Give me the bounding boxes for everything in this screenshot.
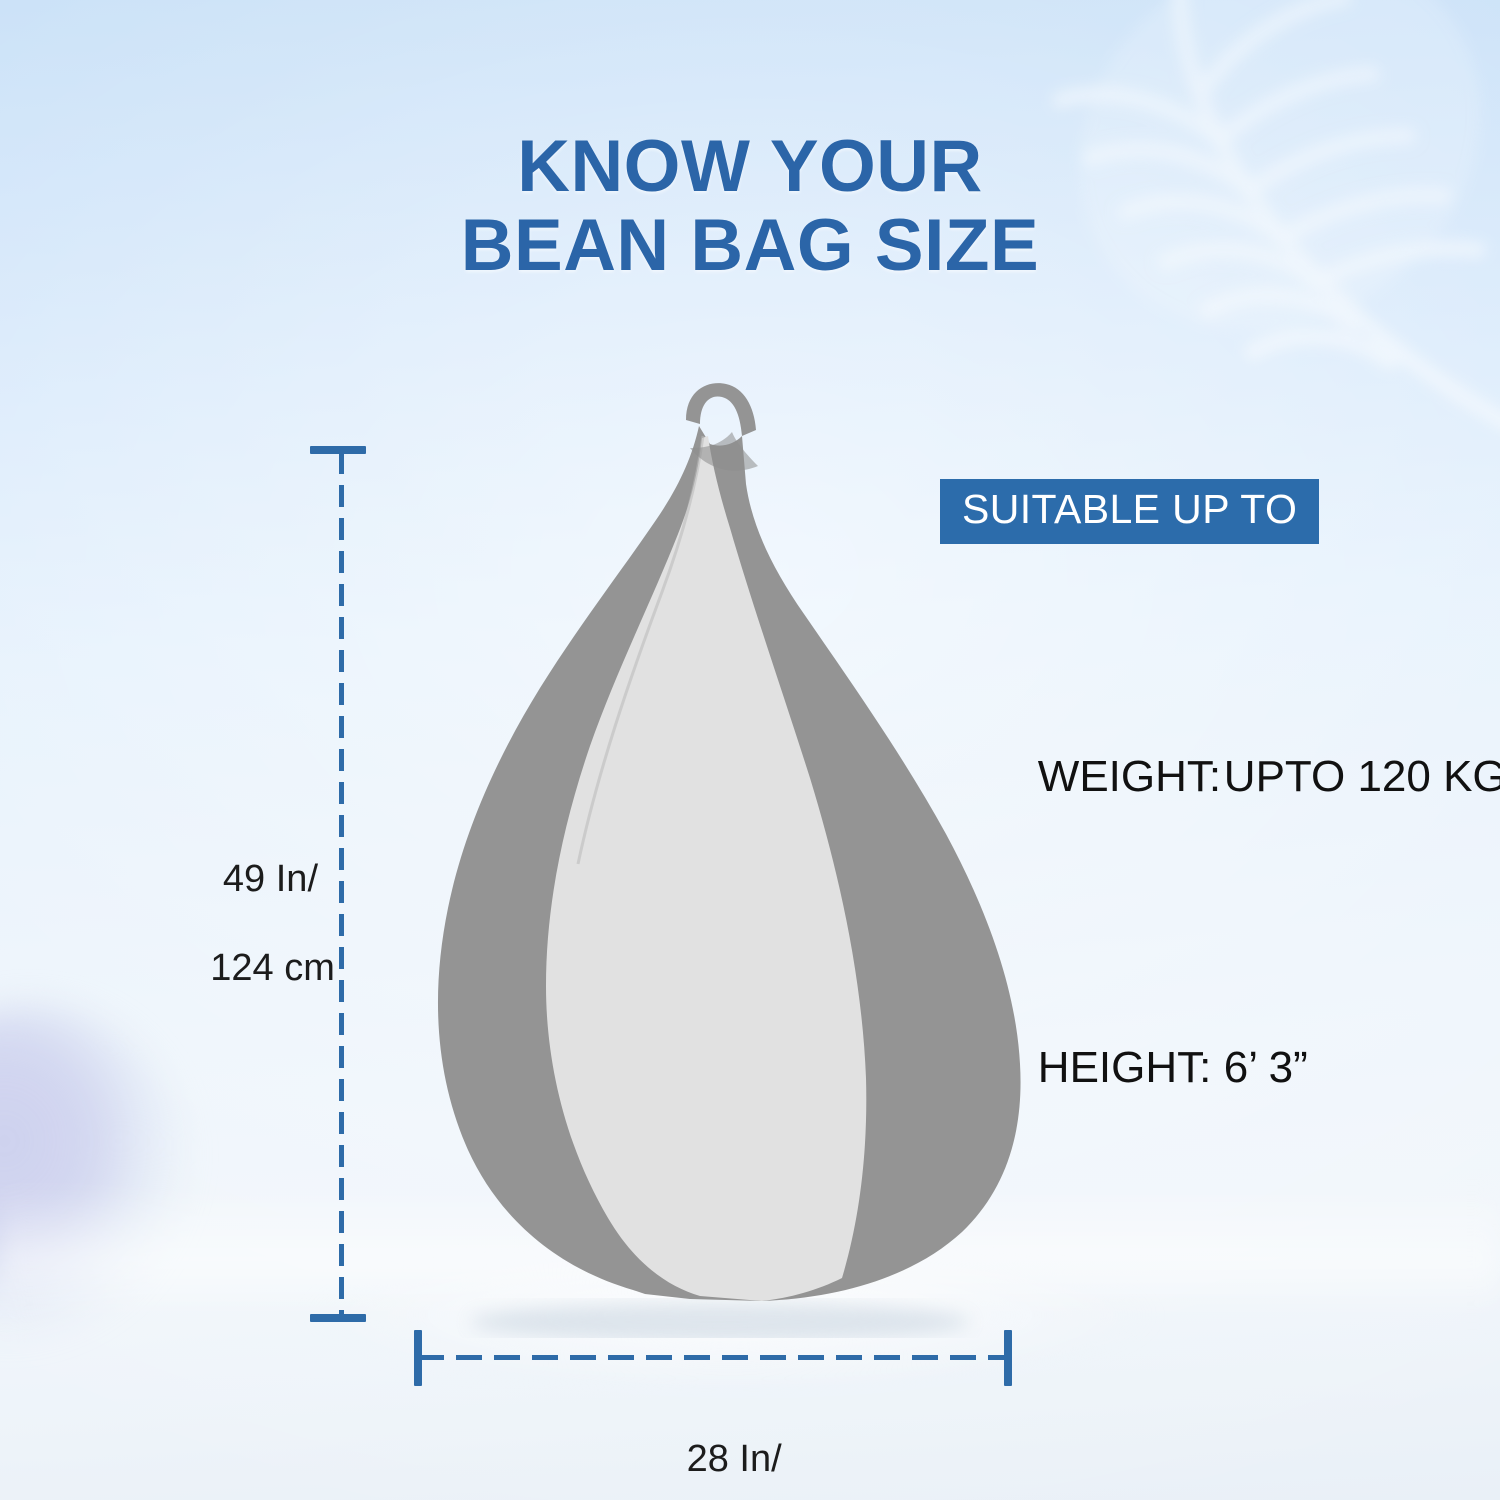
title-line-1: KNOW YOUR bbox=[517, 126, 983, 207]
width-dimension-stem bbox=[418, 1355, 1008, 1360]
height-dimension-label: 49 In/ 124 cm bbox=[168, 812, 318, 1036]
page-title: KNOW YOUR BEAN BAG SIZE bbox=[0, 128, 1500, 286]
height-dimension-line bbox=[333, 446, 349, 1322]
width-label-line-1: 28 In/ bbox=[687, 1438, 782, 1480]
spec-key-height: HEIGHT: bbox=[1038, 1039, 1224, 1097]
infographic-canvas: KNOW YOUR BEAN BAG SIZE bbox=[0, 0, 1500, 1500]
spec-key-weight: WEIGHT: bbox=[1038, 748, 1224, 806]
title-line-2: BEAN BAG SIZE bbox=[0, 207, 1500, 286]
height-label-line-2: 124 cm bbox=[210, 947, 335, 989]
status-badge: SUITABLE UP TO bbox=[940, 479, 1319, 544]
spec-row-weight: WEIGHT:UPTO 120 KG bbox=[940, 690, 1460, 864]
height-dimension-cap-top bbox=[310, 446, 366, 454]
carry-handle-icon bbox=[686, 383, 756, 436]
height-label-line-1: 49 In/ bbox=[223, 858, 318, 900]
height-dimension-cap-bottom bbox=[310, 1314, 366, 1322]
width-dimension-label: 28 In/ 71 cm bbox=[538, 1392, 888, 1500]
spec-list: WEIGHT:UPTO 120 KG HEIGHT:6’ 3” bbox=[940, 574, 1460, 1271]
spec-value-weight: UPTO 120 KG bbox=[1224, 752, 1500, 801]
spec-row-height: HEIGHT:6’ 3” bbox=[940, 981, 1460, 1155]
suitability-panel: SUITABLE UP TO WEIGHT:UPTO 120 KG HEIGHT… bbox=[940, 479, 1460, 1271]
width-dimension-cap-right bbox=[1004, 1330, 1012, 1386]
bag-front-panel bbox=[546, 436, 866, 1301]
height-dimension-stem bbox=[339, 452, 344, 1316]
spec-value-height: 6’ 3” bbox=[1224, 1043, 1308, 1092]
width-dimension-line bbox=[414, 1330, 1012, 1386]
